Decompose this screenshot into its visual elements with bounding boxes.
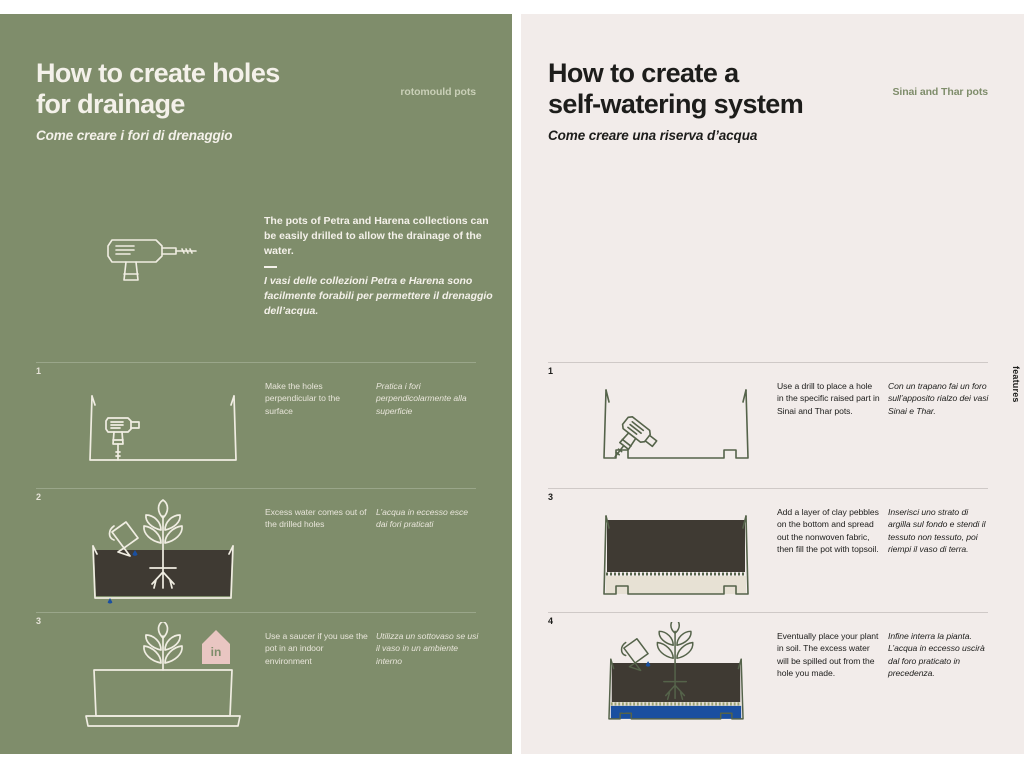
right-title-line-2: self-watering system (548, 89, 803, 119)
step-divider (548, 362, 988, 363)
drill-icon (104, 226, 204, 288)
step-divider (36, 488, 476, 489)
pebble-layer (606, 576, 746, 594)
pot-with-saucer-illustration: in (64, 622, 264, 730)
step-divider (36, 612, 476, 613)
left-panel-intro: The pots of Petra and Harena collections… (264, 214, 494, 318)
left-panel-drainage: How to create holes for drainage Come cr… (0, 14, 512, 754)
left-title-line-1: How to create holes (36, 58, 280, 88)
step-divider (36, 362, 476, 363)
right-panel-collection-label: Sinai and Thar pots (892, 86, 988, 98)
right-step-3-text-it: Inserisci uno strato di argilla sul fond… (888, 506, 992, 556)
right-panel-header: How to create a self-watering system Com… (548, 58, 988, 143)
left-step-3-text-en: Use a saucer if you use the pot in an in… (265, 630, 369, 667)
right-step-4-text-en: Eventually place your plant in soil. The… (777, 630, 881, 680)
right-step-1-text-en: Use a drill to place a hole in the speci… (777, 380, 881, 417)
left-step-1-number: 1 (36, 366, 41, 376)
right-panel-self-watering: How to create a self-watering system Com… (512, 14, 1024, 754)
left-panel-collection-label: rotomould pots (400, 86, 476, 98)
left-panel-subtitle: Come creare i fori di drenaggio (36, 128, 476, 143)
page-root: How to create holes for drainage Come cr… (0, 0, 1024, 768)
intro-text-en: The pots of Petra and Harena collections… (264, 215, 489, 257)
left-step-1-text-en: Make the holes perpendicular to the surf… (265, 380, 369, 417)
left-step-2-number: 2 (36, 492, 41, 502)
soil-fill (607, 520, 745, 572)
indoor-badge-label: in (211, 645, 222, 659)
soil-fill (612, 663, 740, 702)
left-step-2-text-en: Excess water comes out of the drilled ho… (265, 506, 369, 531)
right-step-3-text-en: Add a layer of clay pebbles on the botto… (777, 506, 881, 556)
pot-outline-with-drill-illustration (64, 372, 264, 480)
pot-with-soil-plant-watering-can-illustration (64, 498, 264, 606)
left-step-1-text-it: Pratica i fori perpendicolarmente alla s… (376, 380, 480, 417)
pot-plant-water-reservoir-illustration (576, 622, 776, 730)
right-step-4-text-it: Infine interra la pianta. L’acqua in ecc… (888, 630, 992, 680)
water-reservoir (611, 706, 741, 719)
features-side-tab: features (1011, 366, 1021, 403)
right-step-1-text-it: Con un trapano fai un foro sull’apposito… (888, 380, 992, 417)
step-divider (548, 488, 988, 489)
right-title-line-1: How to create a (548, 58, 739, 88)
step-divider (548, 612, 988, 613)
left-step-3-text-it: Utilizza un sottovaso se usi il vaso in … (376, 630, 480, 667)
intro-text-it: I vasi delle collezioni Petra e Harena s… (264, 275, 493, 317)
left-step-3-number: 3 (36, 616, 41, 626)
left-panel-header: How to create holes for drainage Come cr… (36, 58, 476, 143)
right-step-3-number: 3 (548, 492, 553, 502)
right-step-1-number: 1 (548, 366, 553, 376)
right-panel-subtitle: Come creare una riserva d’acqua (548, 128, 988, 143)
pot-pebbles-fabric-soil-illustration (576, 498, 776, 606)
left-step-2-text-it: L’acqua in eccesso esce dai fori pratica… (376, 506, 480, 531)
right-step-4-number: 4 (548, 616, 553, 626)
intro-divider (264, 266, 277, 268)
left-title-line-2: for drainage (36, 89, 185, 119)
pot-raised-base-with-drill-illustration (576, 372, 776, 480)
